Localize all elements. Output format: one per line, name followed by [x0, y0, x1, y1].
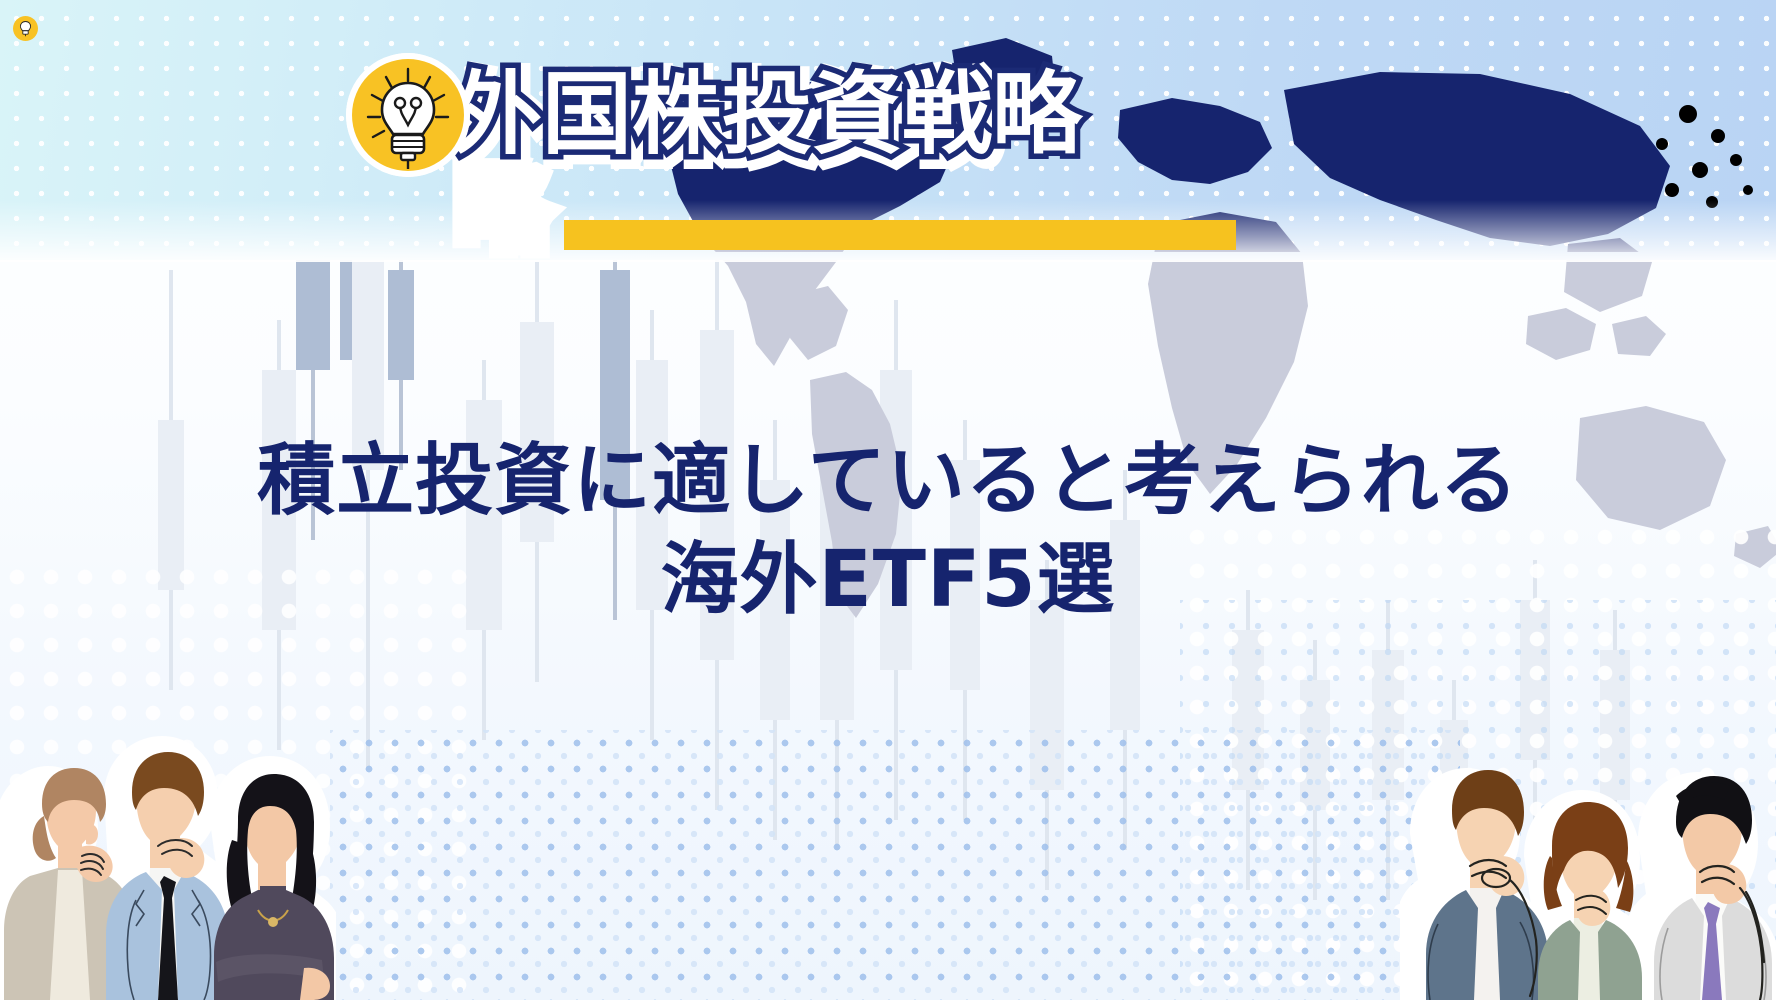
logo-text: 外国株投資戦略 — [452, 70, 1082, 160]
page-title-line-2: 海外ETF5選 — [0, 531, 1776, 629]
hero-banner: 外国株投資戦略 外国株投資戦略 積立投資に適していると考えられる 海外ETF5選 — [0, 0, 1776, 1000]
thinking-business-people-left — [0, 730, 336, 1000]
thinking-business-people-right — [1400, 730, 1776, 1000]
favicon-lightbulb-icon — [13, 16, 38, 41]
diamond-pattern-bottom — [330, 730, 1460, 1000]
site-logo: 外国株投資戦略 外国株投資戦略 — [346, 30, 1082, 200]
lightbulb-icon — [346, 53, 470, 177]
page-title-line-1: 積立投資に適していると考えられる — [0, 432, 1776, 530]
page-title: 積立投資に適していると考えられる 海外ETF5選 — [0, 432, 1776, 629]
